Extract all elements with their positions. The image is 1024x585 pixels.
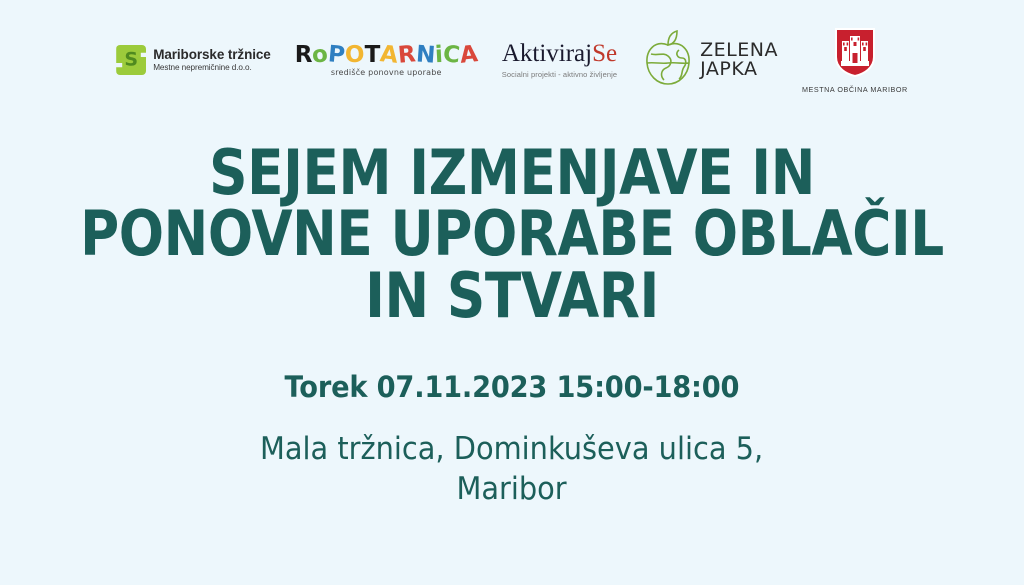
- headline-line-1: SEJEM IZMENJAVE IN: [72, 142, 953, 203]
- zelena-japka-line2: JAPKA: [700, 60, 778, 79]
- logo-mestna-obcina-maribor: MESTNA OBČINA MARIBOR: [802, 27, 908, 94]
- mariborske-trznice-mark-letter: S: [124, 51, 138, 70]
- apple-globe-icon: [641, 28, 695, 93]
- sponsor-logo-bar: S Mariborske tržnice Mestne nepremičnine…: [0, 0, 1024, 112]
- aktiviraj-se-wordmark: AktivirajSe: [502, 41, 617, 67]
- logo-zelena-japka: ZELENA JAPKA: [641, 28, 778, 93]
- mariborske-trznice-name: Mariborske tržnice: [153, 48, 271, 63]
- mariborske-trznice-subtitle: Mestne nepremičnine d.o.o.: [153, 63, 271, 72]
- logo-aktiviraj-se: AktivirajSe Socialni projekti - aktivno …: [502, 41, 617, 78]
- event-location: Mala tržnica, Dominkuševa ulica 5, Marib…: [260, 430, 763, 509]
- event-datetime: Torek 07.11.2023 15:00-18:00: [285, 370, 740, 404]
- event-location-line-1: Mala tržnica, Dominkuševa ulica 5,: [260, 430, 763, 470]
- ropotarnica-subtitle: središče ponovne uporabe: [331, 68, 442, 77]
- ropotarnica-letter: R: [397, 43, 417, 67]
- mestna-obcina-maribor-caption: MESTNA OBČINA MARIBOR: [802, 85, 908, 94]
- aktiviraj-se-accent: Se: [592, 40, 617, 67]
- headline-line-2: PONOVNE UPORABE OBLAČIL: [72, 203, 953, 264]
- mariborske-trznice-cube-icon: S: [116, 45, 146, 75]
- event-poster: S Mariborske tržnice Mestne nepremičnine…: [0, 0, 1024, 585]
- ropotarnica-letter: A: [459, 43, 479, 68]
- ropotarnica-letter: N: [415, 43, 436, 67]
- aktiviraj-se-subtitle: Socialni projekti - aktivno življenje: [502, 70, 617, 79]
- ropotarnica-letter: T: [365, 44, 381, 67]
- event-location-line-2: Maribor: [260, 470, 763, 510]
- ropotarnica-letter: O: [344, 43, 365, 67]
- logo-mariborske-trznice: S Mariborske tržnice Mestne nepremičnine…: [116, 45, 271, 75]
- ropotarnica-wordmark: RoPOTARNiCA: [295, 44, 478, 67]
- poster-headline: SEJEM IZMENJAVE IN PONOVNE UPORABE OBLAČ…: [72, 142, 953, 326]
- maribor-coat-of-arms-icon: [834, 27, 876, 82]
- logo-ropotarnica: RoPOTARNiCA središče ponovne uporabe: [295, 44, 478, 77]
- aktiviraj-se-main: Aktiviraj: [502, 40, 592, 67]
- headline-line-3: IN STVARI: [72, 265, 953, 326]
- ropotarnica-letter: P: [327, 43, 346, 67]
- ropotarnica-letter: R: [295, 44, 313, 67]
